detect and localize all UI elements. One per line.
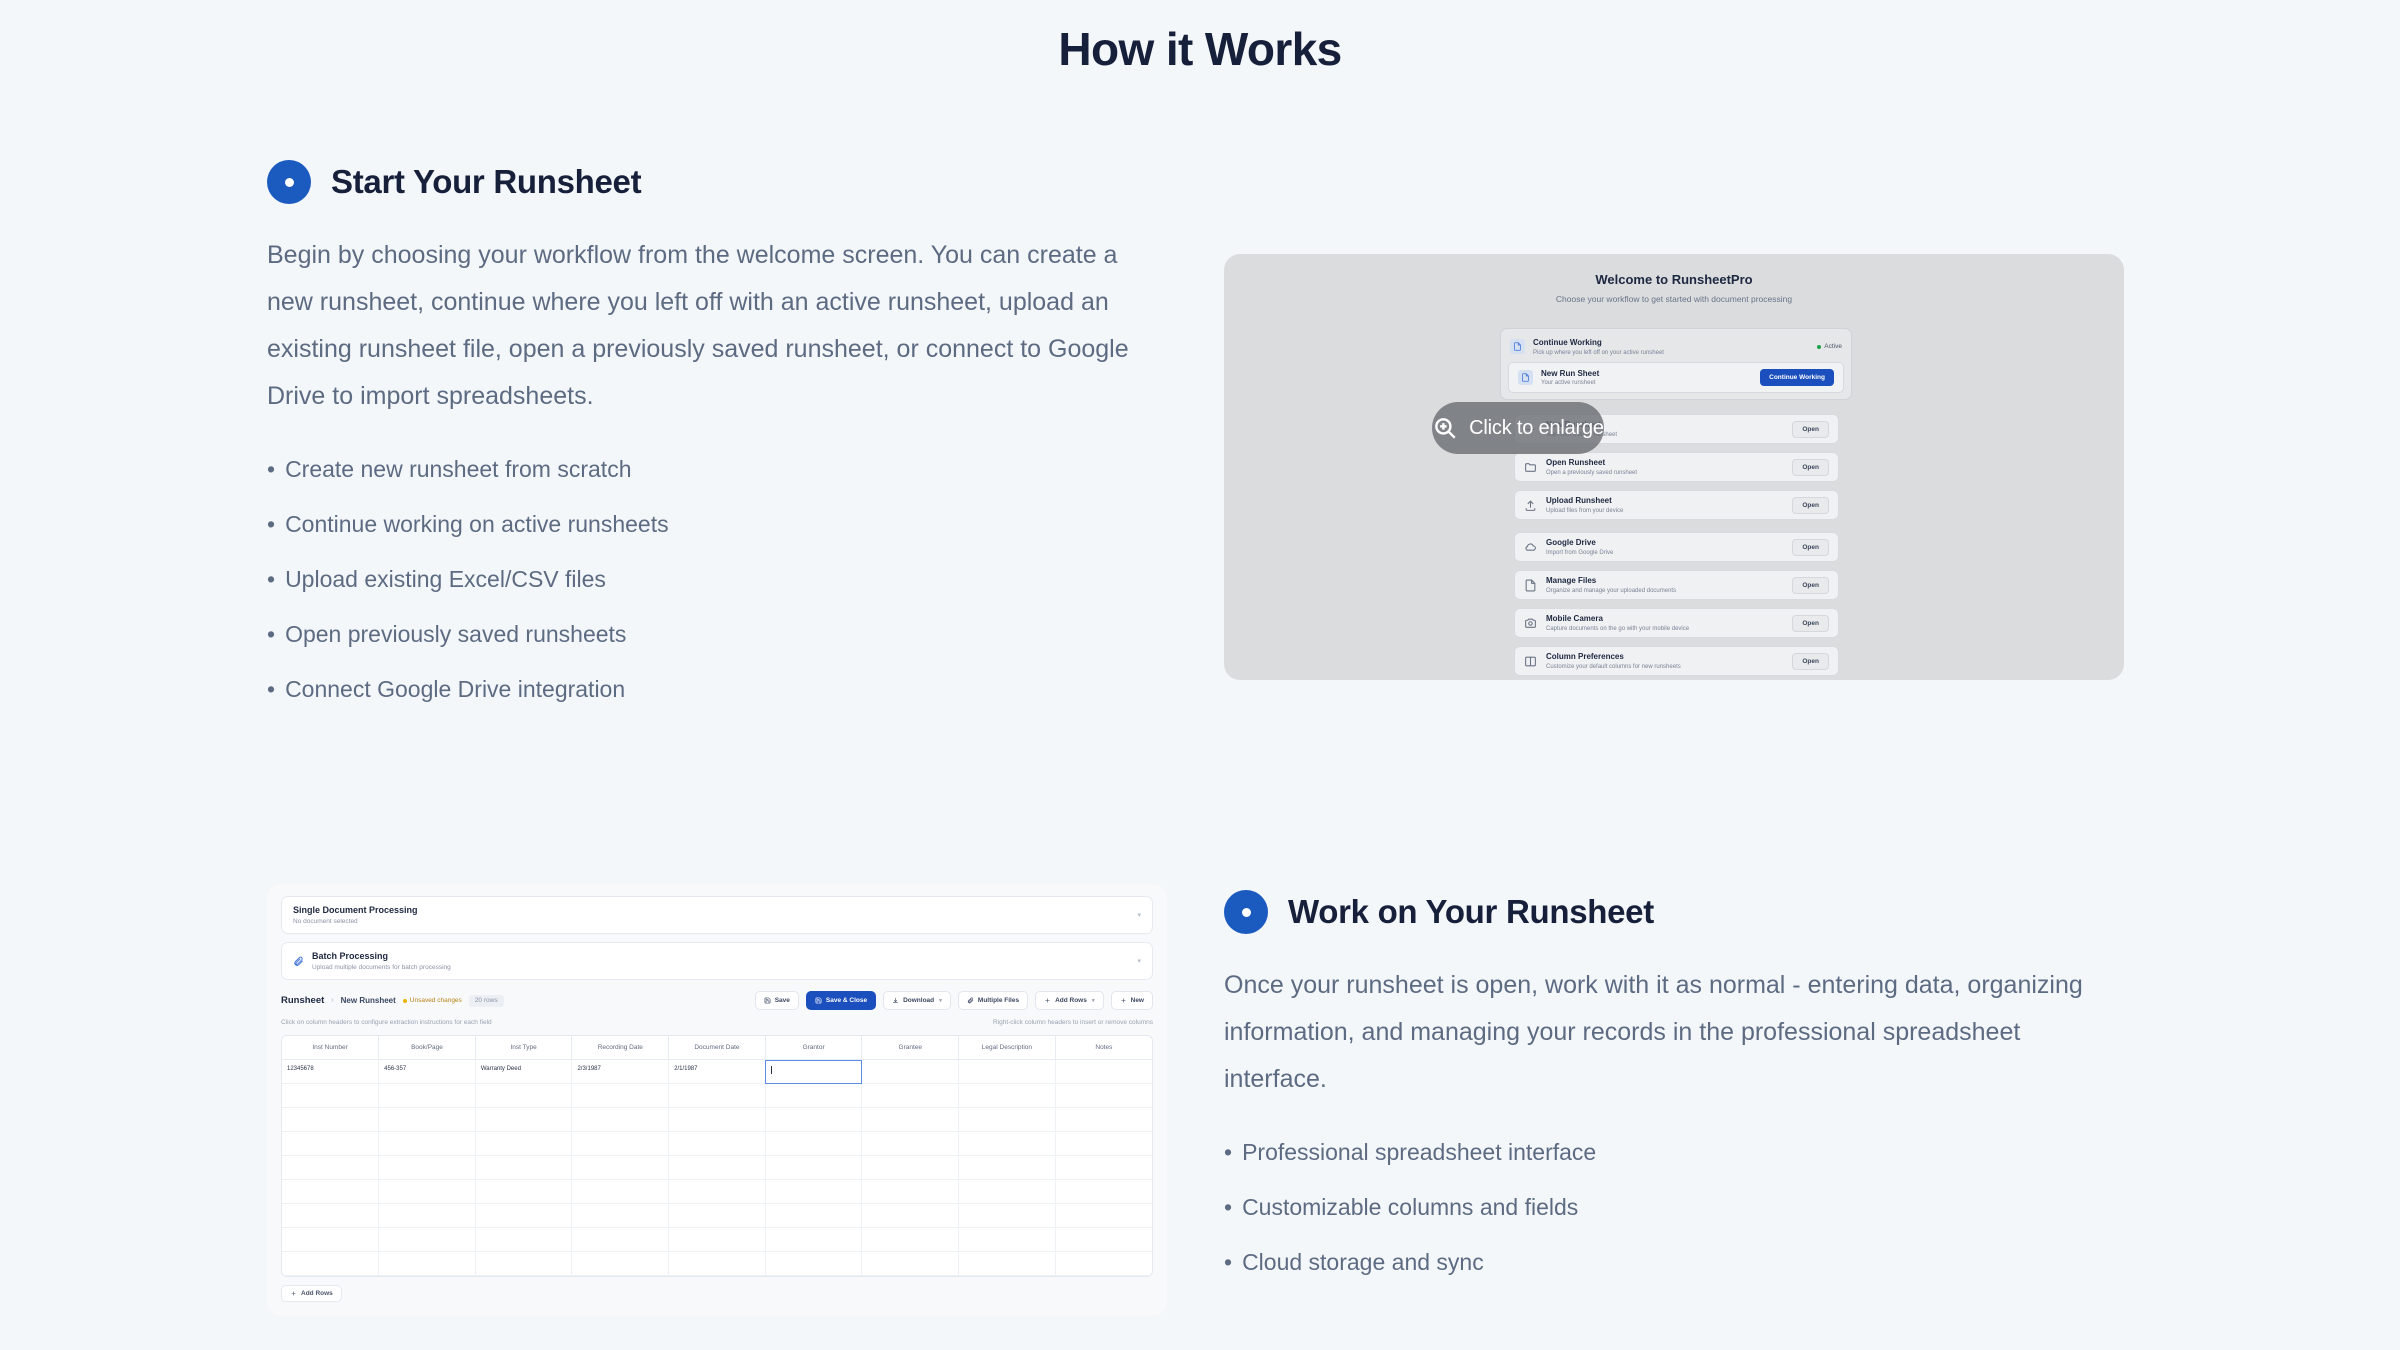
table-cell[interactable] xyxy=(862,1084,959,1108)
multiple-files-label: Multiple Files xyxy=(978,997,1019,1004)
table-cell[interactable] xyxy=(669,1228,766,1252)
table-cell[interactable] xyxy=(765,1252,862,1276)
continue-working-name: Continue Working xyxy=(1533,338,1809,347)
table-cell[interactable] xyxy=(475,1108,572,1132)
option-desc: Capture documents on the go with your mo… xyxy=(1546,626,1783,632)
table-cell[interactable]: Warranty Deed xyxy=(475,1060,572,1084)
column-header[interactable]: Document Date xyxy=(669,1036,766,1060)
column-header[interactable]: Legal Description xyxy=(959,1036,1056,1060)
save-and-close-label: Save & Close xyxy=(826,997,867,1004)
option-desc: Open a previously saved runsheet xyxy=(1546,470,1783,476)
table-cell[interactable]: 456-357 xyxy=(379,1060,476,1084)
section-body: Begin by choosing your workflow from the… xyxy=(267,232,1147,420)
runsheet-toolbar-row: Runsheet › New Runsheet Unsaved changes … xyxy=(281,991,1153,1010)
table-cell[interactable] xyxy=(475,1156,572,1180)
option-desc: Customize your default columns for new r… xyxy=(1546,664,1783,670)
table-cell[interactable] xyxy=(765,1156,862,1180)
table-cell[interactable] xyxy=(475,1228,572,1252)
list-item-label: Professional spreadsheet interface xyxy=(1242,1139,1596,1165)
open-button[interactable]: Open xyxy=(1792,577,1829,594)
option-open-runsheet[interactable]: Open RunsheetOpen a previously saved run… xyxy=(1514,452,1839,482)
accordion-single-document-processing[interactable]: Single Document Processing No document s… xyxy=(281,896,1153,934)
table-row xyxy=(282,1132,1152,1156)
table-cell[interactable] xyxy=(765,1204,862,1228)
table-cell[interactable] xyxy=(379,1180,476,1204)
breadcrumb: Runsheet › New Runsheet Unsaved changes … xyxy=(281,995,504,1007)
folder-icon xyxy=(1524,461,1537,474)
spreadsheet-grid[interactable]: Inst Number Book/Page Inst Type Recordin… xyxy=(281,1035,1153,1277)
option-mobile-camera[interactable]: Mobile CameraCapture documents on the go… xyxy=(1514,608,1839,638)
option-label: Mobile Camera xyxy=(1546,614,1783,623)
plus-icon xyxy=(290,1290,297,1297)
multiple-files-button[interactable]: Multiple Files xyxy=(958,991,1028,1010)
add-rows-label: Add Rows xyxy=(1055,997,1087,1004)
add-rows-footer-button[interactable]: Add Rows xyxy=(281,1285,342,1302)
table-cell[interactable] xyxy=(1055,1156,1152,1180)
list-item-label: Create new runsheet from scratch xyxy=(285,456,631,482)
bullet-marker: • xyxy=(1224,1249,1232,1275)
table-cell[interactable] xyxy=(1055,1132,1152,1156)
list-item: •Continue working on active runsheets xyxy=(267,497,1167,552)
upload-icon xyxy=(1524,499,1537,512)
table-cell[interactable] xyxy=(959,1204,1056,1228)
list-item-label: Connect Google Drive integration xyxy=(285,676,625,702)
option-desc: Upload files from your device xyxy=(1546,508,1783,514)
table-row xyxy=(282,1108,1152,1132)
table-cell[interactable] xyxy=(862,1228,959,1252)
table-cell[interactable] xyxy=(862,1180,959,1204)
welcome-title: Welcome to RunsheetPro xyxy=(1224,272,2124,287)
table-cell[interactable] xyxy=(475,1084,572,1108)
list-item: •Cloud storage and sync xyxy=(1224,1235,2124,1290)
how-it-works-page: How it Works Start Your Runsheet Begin b… xyxy=(0,0,2400,1350)
breadcrumb-current: New Runsheet xyxy=(341,996,396,1005)
section-body: Once your runsheet is open, work with it… xyxy=(1224,962,2104,1103)
new-button[interactable]: New xyxy=(1111,991,1153,1010)
section-bullet-list: •Professional spreadsheet interface •Cus… xyxy=(1224,1125,2124,1290)
welcome-screen-screenshot[interactable]: Welcome to RunsheetPro Choose your workf… xyxy=(1224,254,2124,680)
table-row xyxy=(282,1204,1152,1228)
option-label: Open Runsheet xyxy=(1546,458,1783,467)
bullet-marker: • xyxy=(267,676,275,702)
table-cell[interactable] xyxy=(862,1252,959,1276)
cloud-icon xyxy=(1524,541,1537,554)
table-cell[interactable] xyxy=(379,1156,476,1180)
hint-row: Click on column headers to configure ext… xyxy=(281,1019,1153,1026)
table-cell[interactable] xyxy=(959,1180,1056,1204)
table-cell[interactable] xyxy=(669,1108,766,1132)
list-item: •Open previously saved runsheets xyxy=(267,607,1167,662)
chevron-down-icon: ▾ xyxy=(1092,998,1095,1004)
table-cell[interactable] xyxy=(669,1180,766,1204)
runsheet-mock: Single Document Processing No document s… xyxy=(267,884,1167,1316)
table-cell[interactable] xyxy=(572,1252,669,1276)
active-runsheet-row[interactable]: New Run Sheet Your active runsheet Conti… xyxy=(1508,362,1844,394)
list-item-label: Cloud storage and sync xyxy=(1242,1249,1484,1275)
runsheet-screenshot[interactable]: Single Document Processing No document s… xyxy=(267,884,1167,1316)
document-icon xyxy=(1510,339,1525,354)
table-cell[interactable] xyxy=(282,1180,379,1204)
open-button[interactable]: Open xyxy=(1792,459,1829,476)
click-to-enlarge-label: Click to enlarge xyxy=(1469,417,1604,440)
open-button[interactable]: Open xyxy=(1792,615,1829,632)
bullet-marker: • xyxy=(1224,1139,1232,1165)
document-icon xyxy=(1518,370,1533,385)
option-label: Upload Runsheet xyxy=(1546,496,1783,505)
accordion-batch-processing[interactable]: Batch Processing Upload multiple documen… xyxy=(281,942,1153,980)
table-cell[interactable] xyxy=(765,1108,862,1132)
table-cell[interactable] xyxy=(765,1228,862,1252)
table-cell[interactable] xyxy=(862,1060,959,1084)
paperclip-icon xyxy=(293,956,304,967)
bullet-marker: • xyxy=(267,456,275,482)
table-cell[interactable] xyxy=(959,1228,1056,1252)
continue-working-panel: Continue Working Pick up where you left … xyxy=(1500,328,1852,400)
option-label: Google Drive xyxy=(1546,538,1783,547)
accordion-title: Single Document Processing xyxy=(293,905,1141,915)
table-cell[interactable] xyxy=(379,1084,476,1108)
table-cell[interactable] xyxy=(1055,1228,1152,1252)
table-cell[interactable] xyxy=(1055,1180,1152,1204)
save-icon xyxy=(764,997,771,1004)
list-item-label: Upload existing Excel/CSV files xyxy=(285,566,606,592)
table-cell[interactable] xyxy=(572,1108,669,1132)
files-icon xyxy=(967,997,974,1004)
click-to-enlarge-overlay[interactable]: Click to enlarge xyxy=(1432,402,1604,454)
table-cell[interactable] xyxy=(282,1108,379,1132)
chevron-down-icon: ▾ xyxy=(1137,911,1141,919)
chevron-down-icon: ▾ xyxy=(939,998,942,1004)
camera-icon xyxy=(1524,617,1537,630)
columns-icon xyxy=(1524,655,1537,668)
list-item: •Customizable columns and fields xyxy=(1224,1180,2124,1235)
column-header[interactable]: Grantor xyxy=(765,1036,862,1060)
section-title: Work on Your Runsheet xyxy=(1288,893,1654,931)
table-cell[interactable] xyxy=(282,1252,379,1276)
add-rows-footer-label: Add Rows xyxy=(301,1290,333,1297)
table-cell[interactable] xyxy=(765,1084,862,1108)
table-cell[interactable] xyxy=(475,1180,572,1204)
runsheet-action-toolbar: Save Save & Close Download ▾ Multiple Fi… xyxy=(755,991,1153,1010)
step-badge-icon xyxy=(1224,890,1268,934)
page-title: How it Works xyxy=(0,0,2400,76)
section-header: Start Your Runsheet xyxy=(267,160,1167,204)
option-google-drive[interactable]: Google DriveImport from Google Drive Ope… xyxy=(1514,532,1839,562)
table-cell[interactable] xyxy=(379,1132,476,1156)
section-start-your-runsheet: Start Your Runsheet Begin by choosing yo… xyxy=(267,160,1167,717)
list-item-label: Open previously saved runsheets xyxy=(285,621,626,647)
table-cell[interactable] xyxy=(379,1252,476,1276)
bullet-marker: • xyxy=(267,511,275,537)
table-cell[interactable] xyxy=(572,1228,669,1252)
download-icon xyxy=(892,997,899,1004)
table-cell[interactable] xyxy=(862,1108,959,1132)
table-cell[interactable] xyxy=(1055,1108,1152,1132)
hint-left: Click on column headers to configure ext… xyxy=(281,1019,492,1026)
table-cell[interactable] xyxy=(282,1228,379,1252)
unsaved-changes-label: Unsaved changes xyxy=(410,997,462,1004)
save-icon xyxy=(815,997,822,1004)
option-desc: Import from Google Drive xyxy=(1546,550,1783,556)
column-header[interactable]: Notes xyxy=(1055,1036,1152,1060)
list-item-label: Customizable columns and fields xyxy=(1242,1194,1578,1220)
table-cell[interactable] xyxy=(282,1084,379,1108)
table-row xyxy=(282,1084,1152,1108)
table-cell[interactable] xyxy=(1055,1204,1152,1228)
table-cell[interactable] xyxy=(282,1204,379,1228)
table-cell[interactable] xyxy=(572,1132,669,1156)
table-cell[interactable] xyxy=(862,1204,959,1228)
table-cell[interactable] xyxy=(959,1156,1056,1180)
chevron-down-icon: ▾ xyxy=(1137,957,1141,965)
bullet-marker: • xyxy=(267,566,275,592)
accordion-desc: Upload multiple documents for batch proc… xyxy=(312,964,1141,971)
accordion-desc: No document selected xyxy=(293,918,1141,925)
save-and-close-button[interactable]: Save & Close xyxy=(806,991,876,1010)
welcome-mock: Welcome to RunsheetPro Choose your workf… xyxy=(1224,254,2124,680)
table-cell[interactable] xyxy=(669,1084,766,1108)
plus-icon xyxy=(1120,997,1127,1004)
table-cell[interactable] xyxy=(959,1084,1056,1108)
save-button[interactable]: Save xyxy=(755,991,799,1010)
table-cell[interactable] xyxy=(475,1132,572,1156)
hint-right: Right-click column headers to insert or … xyxy=(993,1019,1153,1026)
bullet-marker: • xyxy=(267,621,275,647)
option-label: Manage Files xyxy=(1546,576,1783,585)
table-cell[interactable] xyxy=(379,1108,476,1132)
table-cell[interactable] xyxy=(379,1228,476,1252)
table-cell[interactable] xyxy=(1055,1060,1152,1084)
rows-count-badge: 20 rows xyxy=(469,995,504,1007)
table-row xyxy=(282,1228,1152,1252)
table-row: 12345678 456-357 Warranty Deed 2/3/1987 … xyxy=(282,1060,1152,1084)
active-runsheet-name: New Run Sheet xyxy=(1541,369,1752,378)
option-column-preferences[interactable]: Column PreferencesCustomize your default… xyxy=(1514,646,1839,676)
active-runsheet-desc: Your active runsheet xyxy=(1541,380,1752,386)
step-badge-icon xyxy=(267,160,311,204)
add-rows-button[interactable]: Add Rows ▾ xyxy=(1035,991,1104,1010)
table-cell[interactable] xyxy=(862,1156,959,1180)
table-cell[interactable] xyxy=(669,1156,766,1180)
table-cell[interactable] xyxy=(765,1180,862,1204)
table-cell[interactable] xyxy=(669,1132,766,1156)
table-cell[interactable] xyxy=(959,1108,1056,1132)
table-cell[interactable] xyxy=(1055,1252,1152,1276)
table-cell[interactable]: 2/1/1987 xyxy=(669,1060,766,1084)
table-cell[interactable] xyxy=(669,1204,766,1228)
continue-working-button[interactable]: Continue Working xyxy=(1760,369,1834,386)
section-header: Work on Your Runsheet xyxy=(1224,890,2124,934)
open-button[interactable]: Open xyxy=(1792,421,1829,438)
list-item-label: Continue working on active runsheets xyxy=(285,511,669,537)
table-cell[interactable] xyxy=(475,1204,572,1228)
plus-icon xyxy=(1044,997,1051,1004)
option-label: Column Preferences xyxy=(1546,652,1783,661)
magnifier-plus-icon xyxy=(1432,415,1458,441)
table-cell[interactable] xyxy=(379,1204,476,1228)
breadcrumb-separator: › xyxy=(331,997,333,1004)
column-header[interactable]: Inst Type xyxy=(475,1036,572,1060)
continue-working-header: Continue Working Pick up where you left … xyxy=(1508,336,1844,362)
table-cell[interactable] xyxy=(282,1132,379,1156)
open-button[interactable]: Open xyxy=(1792,539,1829,556)
table-cell[interactable] xyxy=(1055,1084,1152,1108)
table-cell[interactable] xyxy=(862,1132,959,1156)
table-cell[interactable] xyxy=(959,1252,1056,1276)
list-item: •Create new runsheet from scratch xyxy=(267,442,1167,497)
save-button-label: Save xyxy=(775,997,790,1004)
list-item: •Connect Google Drive integration xyxy=(267,662,1167,717)
column-header[interactable]: Grantee xyxy=(862,1036,959,1060)
breadcrumb-root[interactable]: Runsheet xyxy=(281,995,324,1006)
column-header[interactable]: Recording Date xyxy=(572,1036,669,1060)
status-badge: Active xyxy=(1817,343,1842,350)
column-header[interactable]: Book/Page xyxy=(379,1036,476,1060)
open-button[interactable]: Open xyxy=(1792,497,1829,514)
download-button-label: Download xyxy=(903,997,934,1004)
table-cell[interactable] xyxy=(959,1060,1056,1084)
table-header-row: Inst Number Book/Page Inst Type Recordin… xyxy=(282,1036,1152,1060)
list-item: •Professional spreadsheet interface xyxy=(1224,1125,2124,1180)
table-cell[interactable] xyxy=(765,1132,862,1156)
section-title: Start Your Runsheet xyxy=(331,163,641,201)
section-bullet-list: •Create new runsheet from scratch •Conti… xyxy=(267,442,1167,717)
table-cell[interactable] xyxy=(572,1156,669,1180)
table-cell[interactable] xyxy=(959,1132,1056,1156)
option-desc: Organize and manage your uploaded docume… xyxy=(1546,588,1783,594)
table-cell[interactable] xyxy=(572,1180,669,1204)
table-cell[interactable] xyxy=(669,1252,766,1276)
unsaved-changes-badge: Unsaved changes xyxy=(403,997,462,1004)
table-cell[interactable] xyxy=(475,1252,572,1276)
table-cell[interactable] xyxy=(572,1084,669,1108)
table-cell[interactable]: 2/3/1987 xyxy=(572,1060,669,1084)
status-label: Active xyxy=(1824,343,1842,350)
list-item: •Upload existing Excel/CSV files xyxy=(267,552,1167,607)
table-cell[interactable]: 12345678 xyxy=(282,1060,379,1084)
continue-working-desc: Pick up where you left off on your activ… xyxy=(1533,350,1809,356)
column-header[interactable]: Inst Number xyxy=(282,1036,379,1060)
accordion-title: Batch Processing xyxy=(312,951,1141,961)
option-upload-runsheet[interactable]: Upload RunsheetUpload files from your de… xyxy=(1514,490,1839,520)
option-manage-files[interactable]: Manage FilesOrganize and manage your upl… xyxy=(1514,570,1839,600)
welcome-subtitle: Choose your workflow to get started with… xyxy=(1224,294,2124,304)
new-button-label: New xyxy=(1131,997,1144,1004)
section-work-on-your-runsheet: Work on Your Runsheet Once your runsheet… xyxy=(1224,890,2124,1290)
table-row xyxy=(282,1252,1152,1276)
bullet-marker: • xyxy=(1224,1194,1232,1220)
table-cell[interactable] xyxy=(282,1156,379,1180)
table-row xyxy=(282,1156,1152,1180)
file-icon xyxy=(1524,579,1537,592)
download-button[interactable]: Download ▾ xyxy=(883,991,951,1010)
selected-cell[interactable] xyxy=(765,1060,862,1084)
table-row xyxy=(282,1180,1152,1204)
open-button[interactable]: Open xyxy=(1792,653,1829,670)
table-cell[interactable] xyxy=(572,1204,669,1228)
